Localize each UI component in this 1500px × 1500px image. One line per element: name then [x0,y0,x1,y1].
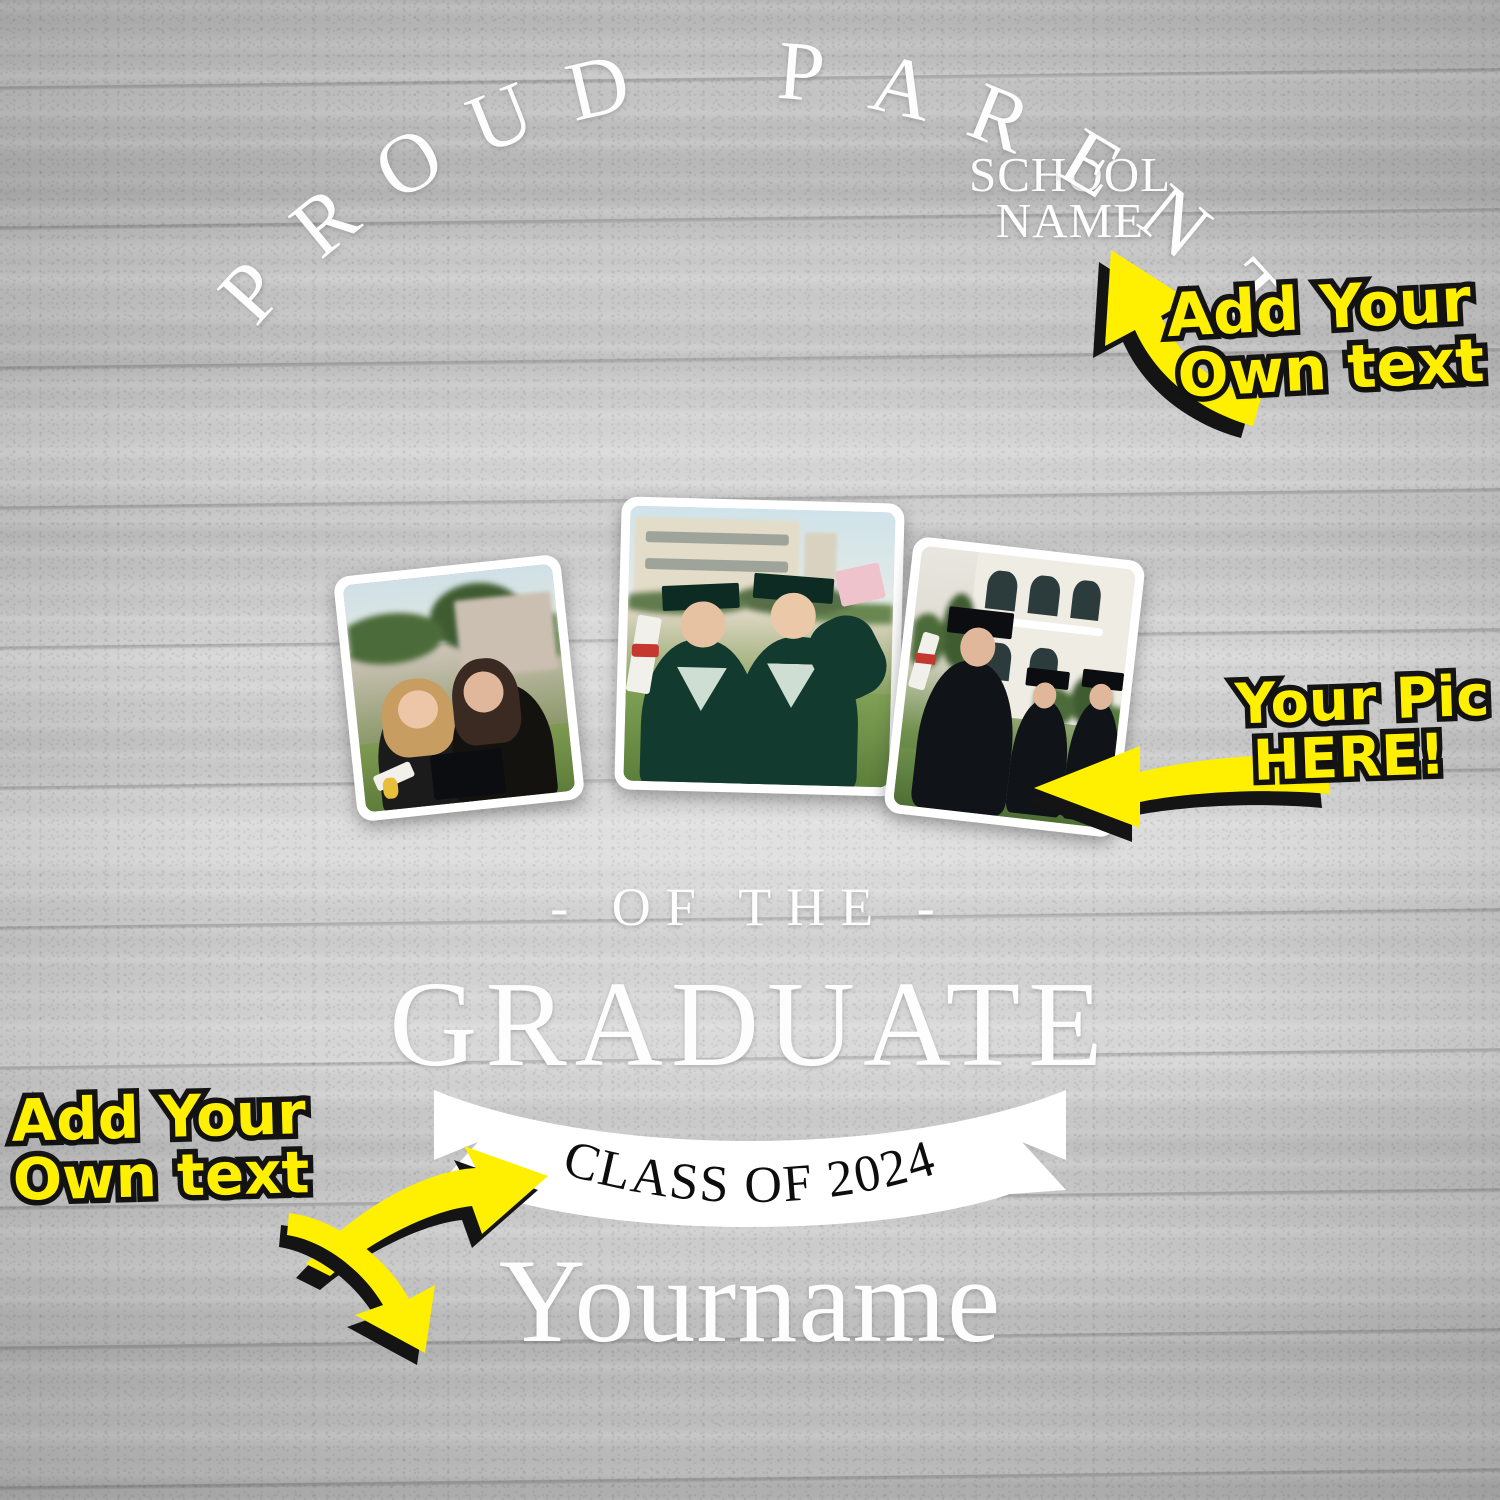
annotation-your-pic-here: Your Pic HERE! [1234,668,1492,791]
of-the-text: - OF THE - [0,876,1500,938]
graduation-poster-canvas: SCHOOL NAME PROUD PARENT [0,0,1500,1500]
photo-1-image [343,564,576,813]
annotation-photo-line-2: HERE! [1252,725,1492,790]
annotation-add-your-own-text-name: Add Your Own text [11,1084,311,1210]
photo-graduates-selfie[interactable] [614,496,905,796]
graduate-name[interactable]: Yourname [0,1232,1500,1370]
arc-letter: P [774,22,828,122]
annotation-name-line-2: Own text [12,1143,310,1210]
annotation-photo-line-1: Your Pic [1234,668,1490,734]
arrow-to-graduate-name [285,1195,455,1355]
annotation-add-your-own-text-school: Add Your Own text [1165,270,1486,409]
graduate-heading: GRADUATE [0,955,1500,1095]
class-of-label: CLASS OF 2024 [557,1130,942,1215]
photo-2-image [623,506,895,788]
annotation-school-line-2: Own text [1176,331,1486,408]
photo-graduates-cheering-with-cap[interactable] [333,554,585,822]
